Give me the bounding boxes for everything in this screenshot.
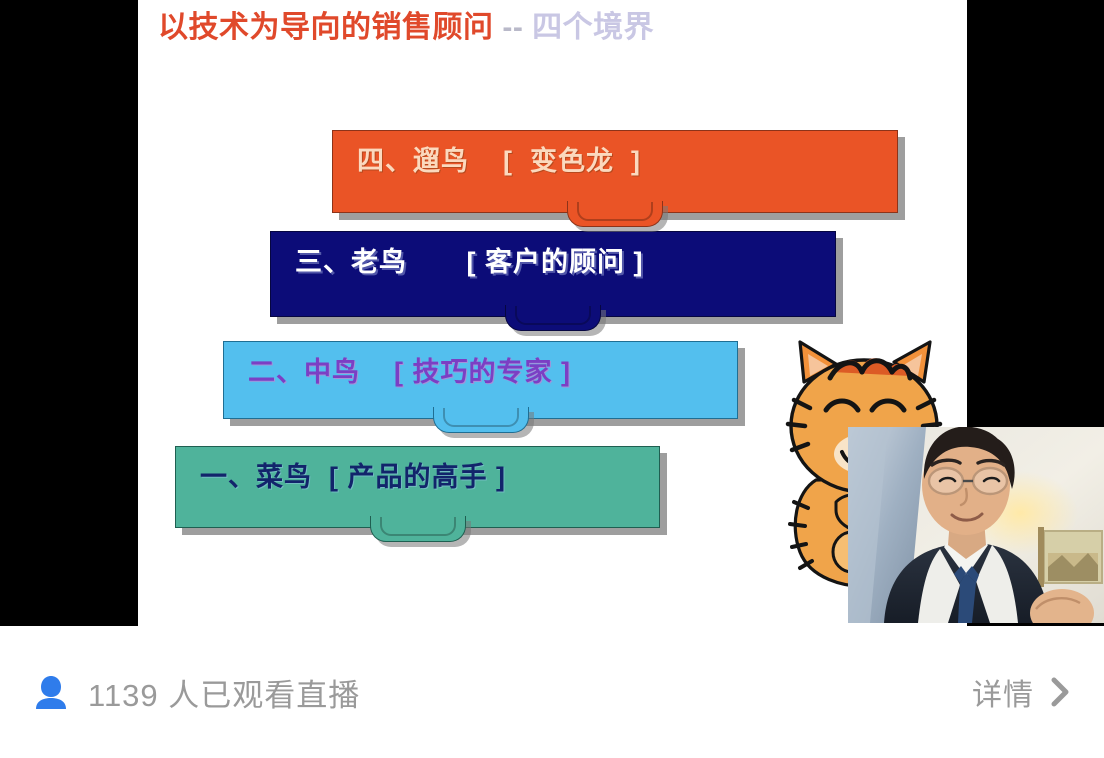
- details-label: 详情: [972, 670, 1034, 714]
- person-icon: [34, 673, 68, 711]
- step-bar-one-label: 一、菜鸟 [ 产品的高手 ]: [200, 455, 506, 494]
- step-bar-four-label: 四、遛鸟 [ 变色龙 ]: [357, 139, 641, 178]
- slide-title-main: 以技术为导向的销售顾问: [158, 11, 494, 44]
- step-bar-four-tab: [567, 201, 663, 227]
- chevron-right-icon: [1050, 676, 1070, 708]
- bottom-info-bar: 1139 人已观看直播 详情: [0, 626, 1104, 758]
- step-bar-three-label: 三、老鸟 [ 客户的顾问 ]: [295, 240, 644, 279]
- step-bar-two-tab-inner: [443, 408, 519, 427]
- step-bar-one-tab: [370, 516, 466, 542]
- step-bar-two-tab: [433, 407, 529, 433]
- presenter-video-thumbnail[interactable]: [848, 427, 1104, 623]
- details-button[interactable]: 详情: [972, 670, 1070, 714]
- step-bar-three: 三、老鸟 [ 客户的顾问 ]: [270, 231, 836, 317]
- live-stream-screen: 以技术为导向的销售顾问 -- 四个境界 四、遛鸟 [ 变色龙 ] 三、老鸟 [ …: [0, 0, 1104, 758]
- presentation-slide: 以技术为导向的销售顾问 -- 四个境界 四、遛鸟 [ 变色龙 ] 三、老鸟 [ …: [138, 0, 967, 626]
- step-bar-one: 一、菜鸟 [ 产品的高手 ]: [175, 446, 660, 528]
- viewer-count-group: 1139 人已观看直播: [34, 670, 360, 715]
- step-bar-three-tab: [505, 305, 601, 331]
- slide-title: 以技术为导向的销售顾问 -- 四个境界: [158, 6, 958, 50]
- slide-title-dash: --: [494, 11, 533, 44]
- slide-title-sub: 四个境界: [532, 11, 654, 44]
- viewer-count-text: 1139 人已观看直播: [88, 670, 360, 715]
- step-bar-four: 四、遛鸟 [ 变色龙 ]: [332, 130, 898, 213]
- step-bar-two: 二、中鸟 [ 技巧的专家 ]: [223, 341, 738, 419]
- step-bar-two-label: 二、中鸟 [ 技巧的专家 ]: [248, 350, 571, 389]
- step-bar-one-tab-inner: [380, 517, 456, 536]
- step-bar-four-tab-inner: [577, 202, 653, 221]
- step-bar-three-tab-inner: [515, 306, 591, 325]
